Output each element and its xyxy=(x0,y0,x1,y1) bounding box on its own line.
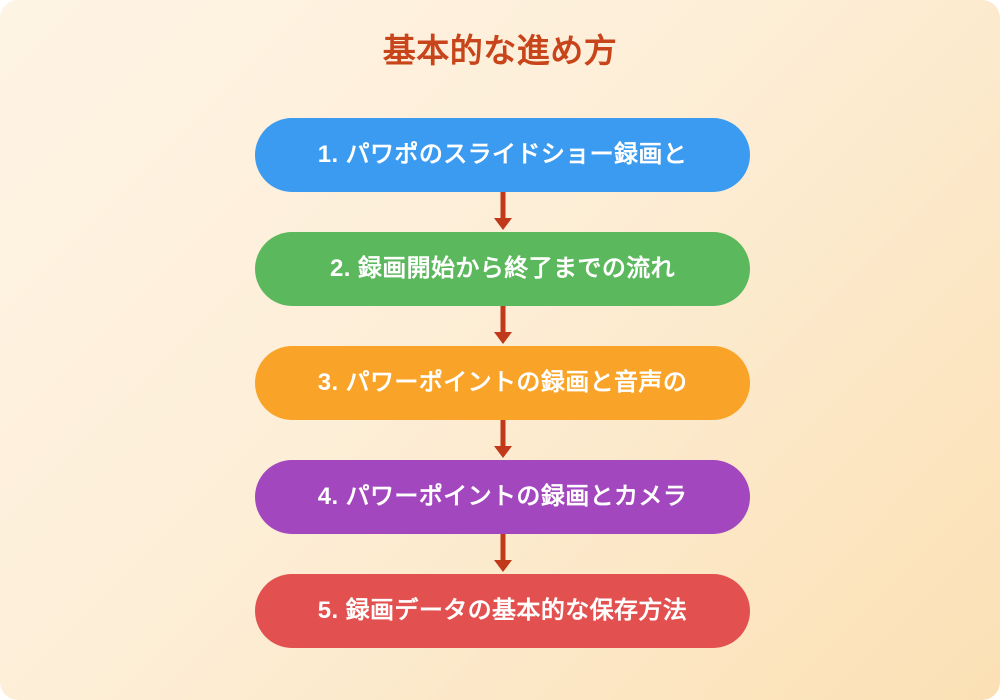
flow-step-4: 4. パワーポイントの録画とカメラ xyxy=(255,460,750,534)
flow-step-3: 3. パワーポイントの録画と音声の xyxy=(255,346,750,420)
flow-node-3-label: 3. パワーポイントの録画と音声の xyxy=(318,369,687,398)
flow-node-2-label: 2. 録画開始から終了までの流れ xyxy=(330,255,675,284)
flow-node-5[interactable]: 5. 録画データの基本的な保存方法 xyxy=(255,574,750,648)
flow-connector-2-3 xyxy=(255,306,750,346)
flow-node-2[interactable]: 2. 録画開始から終了までの流れ xyxy=(255,232,750,306)
flow-connector-4-5 xyxy=(255,534,750,574)
flow-node-5-label: 5. 録画データの基本的な保存方法 xyxy=(318,597,687,626)
flow-step-1: 1. パワポのスライドショー録画と xyxy=(255,118,750,192)
arrow-down-icon xyxy=(493,192,513,232)
flow-connector-3-4 xyxy=(255,420,750,460)
flow-node-3[interactable]: 3. パワーポイントの録画と音声の xyxy=(255,346,750,420)
page-title: 基本的な進め方 xyxy=(0,30,1000,71)
arrow-down-icon xyxy=(493,420,513,460)
flow-node-4-label: 4. パワーポイントの録画とカメラ xyxy=(318,483,687,512)
flow-connector-1-2 xyxy=(255,192,750,232)
arrow-down-icon xyxy=(493,534,513,574)
flow-node-1-label: 1. パワポのスライドショー録画と xyxy=(318,141,687,170)
flow-step-5: 5. 録画データの基本的な保存方法 xyxy=(255,574,750,648)
flow-step-2: 2. 録画開始から終了までの流れ xyxy=(255,232,750,306)
flowchart-node-list: 1. パワポのスライドショー録画と 2. 録画開始から終了までの流れ 3. xyxy=(255,118,750,648)
arrow-down-icon xyxy=(493,306,513,346)
flowchart-canvas: 基本的な進め方 1. パワポのスライドショー録画と 2. 録画開始から終了までの… xyxy=(0,0,1000,700)
flow-node-1[interactable]: 1. パワポのスライドショー録画と xyxy=(255,118,750,192)
flow-node-4[interactable]: 4. パワーポイントの録画とカメラ xyxy=(255,460,750,534)
